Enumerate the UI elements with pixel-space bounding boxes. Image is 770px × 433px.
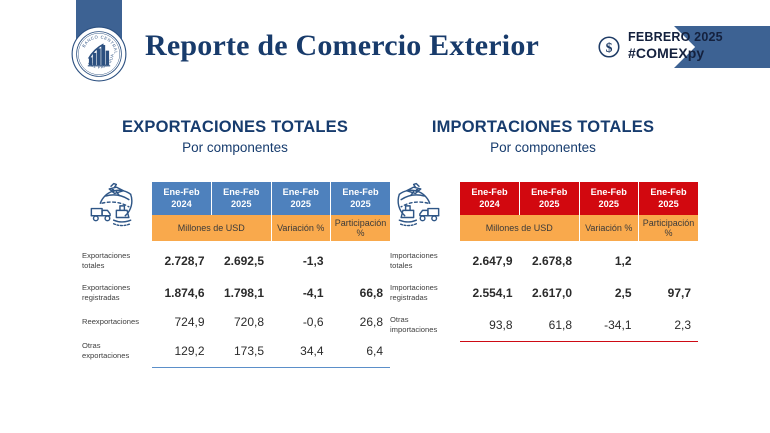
imports-unit-participacion: Participación % bbox=[639, 215, 699, 241]
table-row: Otras importaciones 93,8 61,8 -34,1 2,3 bbox=[388, 309, 698, 341]
imports-row-0-val-1: 2.678,8 bbox=[520, 245, 580, 277]
panel-imports-heading: IMPORTACIONES TOTALES Por componentes bbox=[388, 118, 698, 155]
exports-col-period-3: Ene-Feb bbox=[331, 187, 390, 199]
table-row: Reexportaciones 724,9 720,8 -0,6 26,8 bbox=[80, 309, 390, 335]
imports-unit-variacion: Variación % bbox=[579, 215, 639, 241]
imports-unit-millones: Millones de USD bbox=[460, 215, 579, 241]
exports-row-2-val-2: -0,6 bbox=[271, 309, 331, 335]
exports-title: EXPORTACIONES TOTALES bbox=[80, 118, 390, 137]
imports-row-2-val-2: -34,1 bbox=[579, 309, 639, 341]
exports-header-period-row: Ene-Feb 2024 Ene-Feb 2025 Ene-Feb 2025 E… bbox=[80, 182, 390, 215]
imports-col-header-0: Ene-Feb 2024 bbox=[460, 182, 520, 215]
imports-corner-cell bbox=[388, 182, 460, 215]
imports-row-0-val-0: 2.647,9 bbox=[460, 245, 520, 277]
imports-table: Ene-Feb 2024 Ene-Feb 2025 Ene-Feb 2025 E… bbox=[388, 182, 698, 342]
exports-col-header-2: Ene-Feb 2025 bbox=[271, 182, 331, 215]
exports-header-unit-row: Millones de USD Variación % Participació… bbox=[80, 215, 390, 241]
imports-row-1-val-1: 2.617,0 bbox=[520, 277, 580, 309]
imports-row-1-val-2: 2,5 bbox=[579, 277, 639, 309]
exports-row-0-val-1: 2.692,5 bbox=[212, 245, 272, 277]
exports-col-period-0: Ene-Feb bbox=[152, 187, 211, 199]
exports-row-label-1: Exportaciones registradas bbox=[80, 277, 152, 309]
exports-col-header-0: Ene-Feb 2024 bbox=[152, 182, 212, 215]
exports-row-2-val-3: 26,8 bbox=[331, 309, 391, 335]
exports-row-0-val-2: -1,3 bbox=[271, 245, 331, 277]
imports-row-label-2: Otras importaciones bbox=[388, 309, 460, 341]
exports-unit-participacion: Participación % bbox=[331, 215, 391, 241]
exports-row-label-0: Exportaciones totales bbox=[80, 245, 152, 277]
imports-row-1-val-3: 97,7 bbox=[639, 277, 699, 309]
exports-row-0-val-3 bbox=[331, 245, 391, 277]
imports-col-year-1: 2025 bbox=[520, 199, 579, 211]
exports-col-year-3: 2025 bbox=[331, 199, 390, 211]
imports-col-period-3: Ene-Feb bbox=[639, 187, 698, 199]
page-header: BANCO CENTRAL DEL PARAGUAY Reporte de Co… bbox=[0, 0, 770, 92]
exports-table: Ene-Feb 2024 Ene-Feb 2025 Ene-Feb 2025 E… bbox=[80, 182, 390, 368]
imports-col-year-2: 2025 bbox=[580, 199, 639, 211]
imports-row-label-0: Importaciones totales bbox=[388, 245, 460, 277]
svg-text:$: $ bbox=[606, 40, 613, 55]
badge-hashtag-label: #COMEXpy bbox=[628, 45, 723, 62]
exports-row-1-val-2: -4,1 bbox=[271, 277, 331, 309]
exports-row-0-val-0: 2.728,7 bbox=[152, 245, 212, 277]
exports-col-header-1: Ene-Feb 2025 bbox=[212, 182, 272, 215]
table-row: Importaciones registradas 2.554,1 2.617,… bbox=[388, 277, 698, 309]
imports-col-year-0: 2024 bbox=[460, 199, 519, 211]
exports-unit-corner-cell bbox=[80, 215, 152, 241]
imports-unit-corner-cell bbox=[388, 215, 460, 241]
imports-row-2-val-3: 2,3 bbox=[639, 309, 699, 341]
exports-col-year-2: 2025 bbox=[272, 199, 331, 211]
panel-exports-heading: EXPORTACIONES TOTALES Por componentes bbox=[80, 118, 390, 155]
imports-col-period-1: Ene-Feb bbox=[520, 187, 579, 199]
exports-row-1-val-3: 66,8 bbox=[331, 277, 391, 309]
imports-row-1-val-0: 2.554,1 bbox=[460, 277, 520, 309]
exports-unit-millones: Millones de USD bbox=[152, 215, 271, 241]
imports-row-label-1: Importaciones registradas bbox=[388, 277, 460, 309]
imports-col-period-2: Ene-Feb bbox=[580, 187, 639, 199]
exports-col-period-1: Ene-Feb bbox=[212, 187, 271, 199]
exports-row-1-val-1: 1.798,1 bbox=[212, 277, 272, 309]
imports-col-year-3: 2025 bbox=[639, 199, 698, 211]
exports-col-period-2: Ene-Feb bbox=[272, 187, 331, 199]
exports-row-3-val-3: 6,4 bbox=[331, 335, 391, 367]
imports-title: IMPORTACIONES TOTALES bbox=[388, 118, 698, 137]
imports-row-0-val-3 bbox=[639, 245, 699, 277]
exports-row-3-val-2: 34,4 bbox=[271, 335, 331, 367]
exports-row-label-2: Reexportaciones bbox=[80, 309, 152, 335]
badge-period-label: FEBRERO 2025 bbox=[628, 30, 723, 45]
exports-row-1-val-0: 1.874,6 bbox=[152, 277, 212, 309]
exports-row-2-val-0: 724,9 bbox=[152, 309, 212, 335]
exports-row-2-val-1: 720,8 bbox=[212, 309, 272, 335]
exports-corner-cell bbox=[80, 182, 152, 215]
imports-row-0-val-2: 1,2 bbox=[579, 245, 639, 277]
imports-col-header-1: Ene-Feb 2025 bbox=[520, 182, 580, 215]
imports-col-header-2: Ene-Feb 2025 bbox=[579, 182, 639, 215]
imports-col-header-3: Ene-Feb 2025 bbox=[639, 182, 699, 215]
report-period-badge: $ FEBRERO 2025 #COMEXpy bbox=[596, 26, 770, 68]
exports-row-3-val-1: 173,5 bbox=[212, 335, 272, 367]
exports-row-3-val-0: 129,2 bbox=[152, 335, 212, 367]
page-title: Reporte de Comercio Exterior bbox=[145, 29, 539, 63]
table-row: Otras exportaciones 129,2 173,5 34,4 6,4 bbox=[80, 335, 390, 367]
exports-col-year-0: 2024 bbox=[152, 199, 211, 211]
exports-col-year-1: 2025 bbox=[212, 199, 271, 211]
imports-header-period-row: Ene-Feb 2024 Ene-Feb 2025 Ene-Feb 2025 E… bbox=[388, 182, 698, 215]
imports-col-period-0: Ene-Feb bbox=[460, 187, 519, 199]
imports-header-unit-row: Millones de USD Variación % Participació… bbox=[388, 215, 698, 241]
table-row: Importaciones totales 2.647,9 2.678,8 1,… bbox=[388, 245, 698, 277]
exports-unit-variacion: Variación % bbox=[271, 215, 331, 241]
imports-subtitle: Por componentes bbox=[388, 140, 698, 155]
imports-row-2-val-1: 61,8 bbox=[520, 309, 580, 341]
table-row: Exportaciones registradas 1.874,6 1.798,… bbox=[80, 277, 390, 309]
bcp-seal-logo-icon: BANCO CENTRAL DEL PARAGUAY bbox=[71, 26, 127, 82]
exports-col-header-3: Ene-Feb 2025 bbox=[331, 182, 391, 215]
exports-subtitle: Por componentes bbox=[80, 140, 390, 155]
imports-row-2-val-0: 93,8 bbox=[460, 309, 520, 341]
exports-row-label-3: Otras exportaciones bbox=[80, 335, 152, 367]
table-row: Exportaciones totales 2.728,7 2.692,5 -1… bbox=[80, 245, 390, 277]
dollar-coin-icon: $ bbox=[596, 34, 622, 60]
